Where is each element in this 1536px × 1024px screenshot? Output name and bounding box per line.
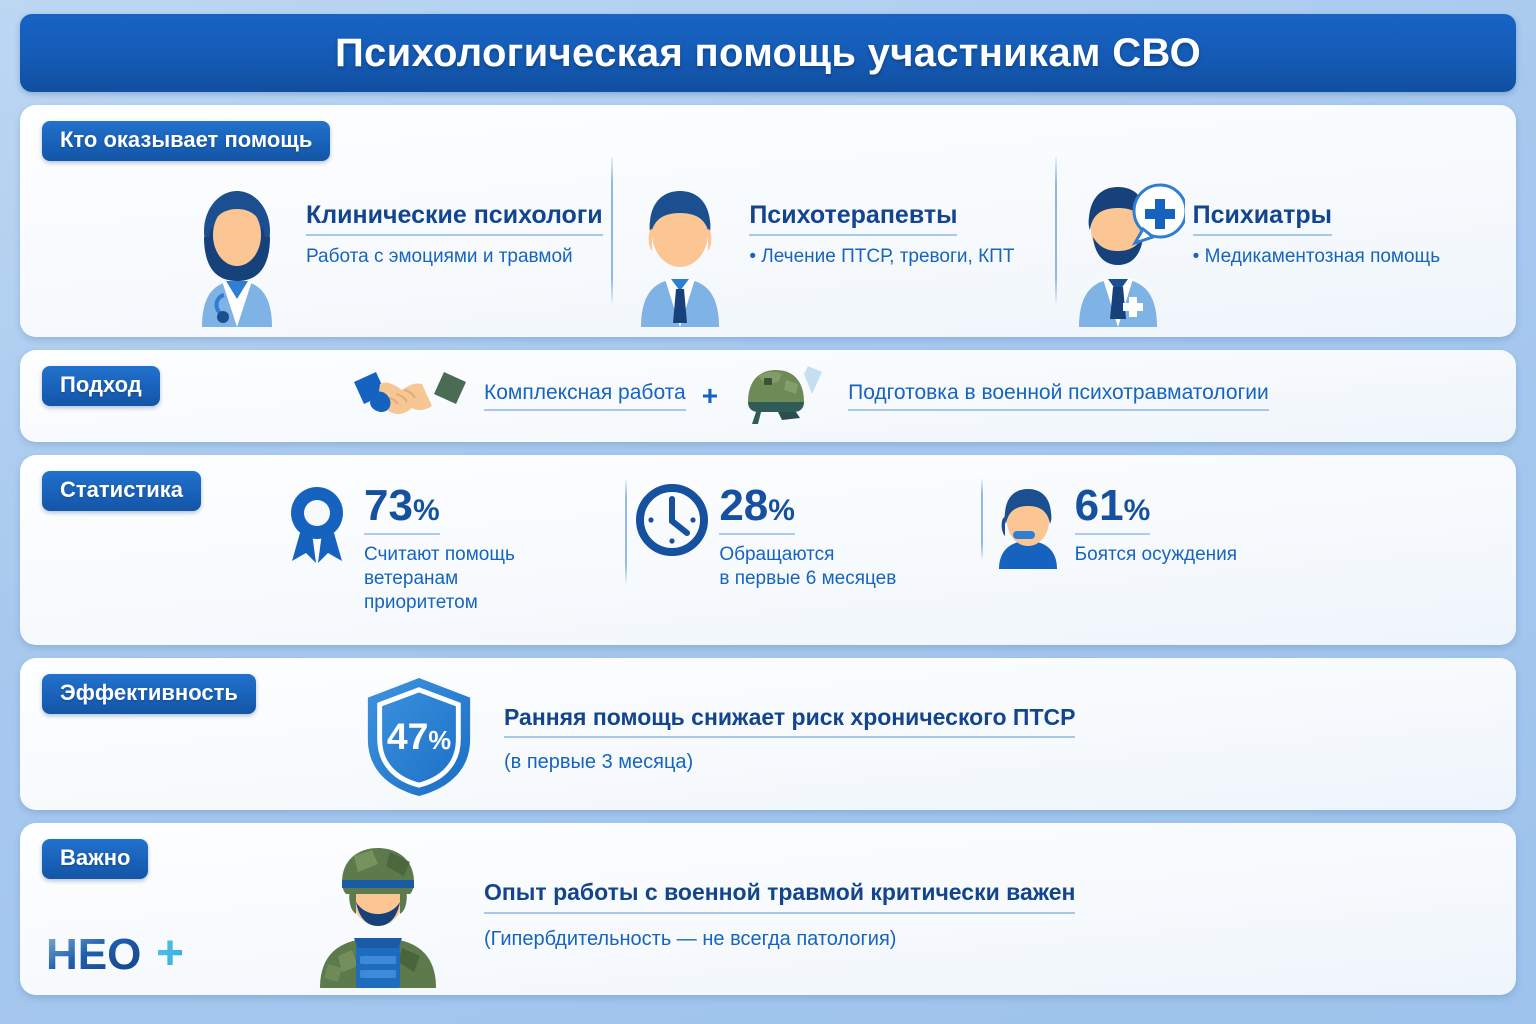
stat-label: Боятся осуждения [1075, 543, 1237, 567]
brand-logo[interactable]: НЕО + [46, 929, 206, 979]
section-badge-important: Важно [42, 839, 148, 879]
page-title: Психологическая помощь участникам СВО [335, 31, 1201, 76]
stat-value: 28% [719, 485, 795, 535]
stat-item[interactable]: 73% Считают помощь ветеранам приоритетом [270, 469, 625, 616]
female-psychologist-icon [176, 167, 298, 327]
effectiveness-headline: Ранняя помощь снижает риск хронического … [504, 704, 1075, 738]
provider-title: Психотерапевты [749, 201, 957, 236]
provider-card[interactable]: Психиатры • Медикаментозная помощь [1057, 139, 1500, 327]
infographic-page: Психологическая помощь участникам СВО Кт… [0, 0, 1536, 1024]
stat-label: Считают помощь ветеранам приоритетом [364, 543, 515, 616]
important-row: Опыт работы с военной травмой критически… [298, 841, 1496, 989]
section-badge-providers: Кто оказывает помощь [42, 121, 330, 161]
plus-sign: + [700, 380, 720, 412]
important-text: Опыт работы с военной травмой критически… [484, 879, 1075, 951]
stat-label: Обращаются в первые 6 месяцев [719, 543, 896, 592]
section-badge-effectiveness: Эффективность [42, 674, 256, 714]
provider-card[interactable]: Клинические психологи Работа с эмоциями … [170, 139, 613, 327]
stat-body: 61% Боятся осуждения [1075, 483, 1237, 567]
handshake-icon [350, 362, 470, 431]
section-badge-statistics: Статистика [42, 471, 201, 511]
soldier-icon [298, 838, 458, 993]
clock-icon [635, 483, 709, 567]
effectiveness-subline: (в первые 3 месяца) [504, 751, 1075, 774]
person-headset-icon [991, 483, 1065, 567]
page-title-bar: Психологическая помощь участникам СВО [20, 14, 1516, 92]
award-ribbon-icon [280, 483, 354, 567]
provider-text: Психотерапевты • Лечение ПТСР, тревоги, … [749, 197, 1014, 270]
logo-text: НЕО [46, 930, 141, 979]
bearded-psychiatrist-icon [1063, 167, 1185, 327]
provider-card[interactable]: Психотерапевты • Лечение ПТСР, тревоги, … [613, 139, 1056, 327]
approach-right-text: Подготовка в военной психотравматологии [848, 381, 1269, 411]
logo-plus: + [156, 929, 184, 979]
shield-value: 47 [387, 714, 429, 756]
stat-item[interactable]: 28% Обращаются в первые 6 месяцев [625, 469, 980, 591]
important-subline: (Гипербдительность — не всегда патология… [484, 928, 1075, 951]
effectiveness-text: Ранняя помощь снижает риск хронического … [504, 704, 1075, 774]
provider-text: Психиатры • Медикаментозная помощь [1193, 197, 1440, 270]
provider-desc: • Медикаментозная помощь [1193, 245, 1440, 270]
statistics-list: 73% Считают помощь ветеранам приоритетом… [270, 469, 1336, 635]
important-headline: Опыт работы с военной травмой критически… [484, 879, 1075, 914]
stat-value: 61% [1075, 485, 1151, 535]
male-psychotherapist-icon [619, 167, 741, 327]
provider-desc: • Лечение ПТСР, тревоги, КПТ [749, 245, 1014, 270]
stat-item[interactable]: 61% Боятся осуждения [981, 469, 1336, 567]
provider-text: Клинические психологи Работа с эмоциями … [306, 197, 603, 270]
section-statistics: Статистика 73% Считают помощь ветеранам … [20, 455, 1516, 645]
section-badge-approach: Подход [42, 366, 160, 406]
section-important: Важно [20, 823, 1516, 995]
section-providers: Кто оказывает помощь [20, 105, 1516, 337]
approach-row: Комплексная работа + Подготовка в военно… [20, 350, 1516, 442]
approach-left-text: Комплексная работа [484, 381, 686, 411]
section-effectiveness: Эффективность 47% [20, 658, 1516, 810]
provider-title: Клинические психологи [306, 201, 603, 236]
stat-body: 28% Обращаются в первые 6 месяцев [719, 483, 896, 591]
shield-unit: % [428, 726, 451, 754]
stat-value: 73% [364, 485, 440, 535]
military-helmet-icon [734, 362, 834, 431]
effectiveness-row: 47% Ранняя помощь снижает риск хроническ… [360, 678, 1496, 800]
provider-title: Психиатры [1193, 201, 1332, 236]
shield-icon: 47% [360, 676, 478, 803]
providers-list: Клинические психологи Работа с эмоциями … [170, 139, 1500, 327]
provider-desc: Работа с эмоциями и травмой [306, 245, 603, 270]
section-approach: Подход Комплексная работа + [20, 350, 1516, 442]
stat-body: 73% Считают помощь ветеранам приоритетом [364, 483, 515, 616]
